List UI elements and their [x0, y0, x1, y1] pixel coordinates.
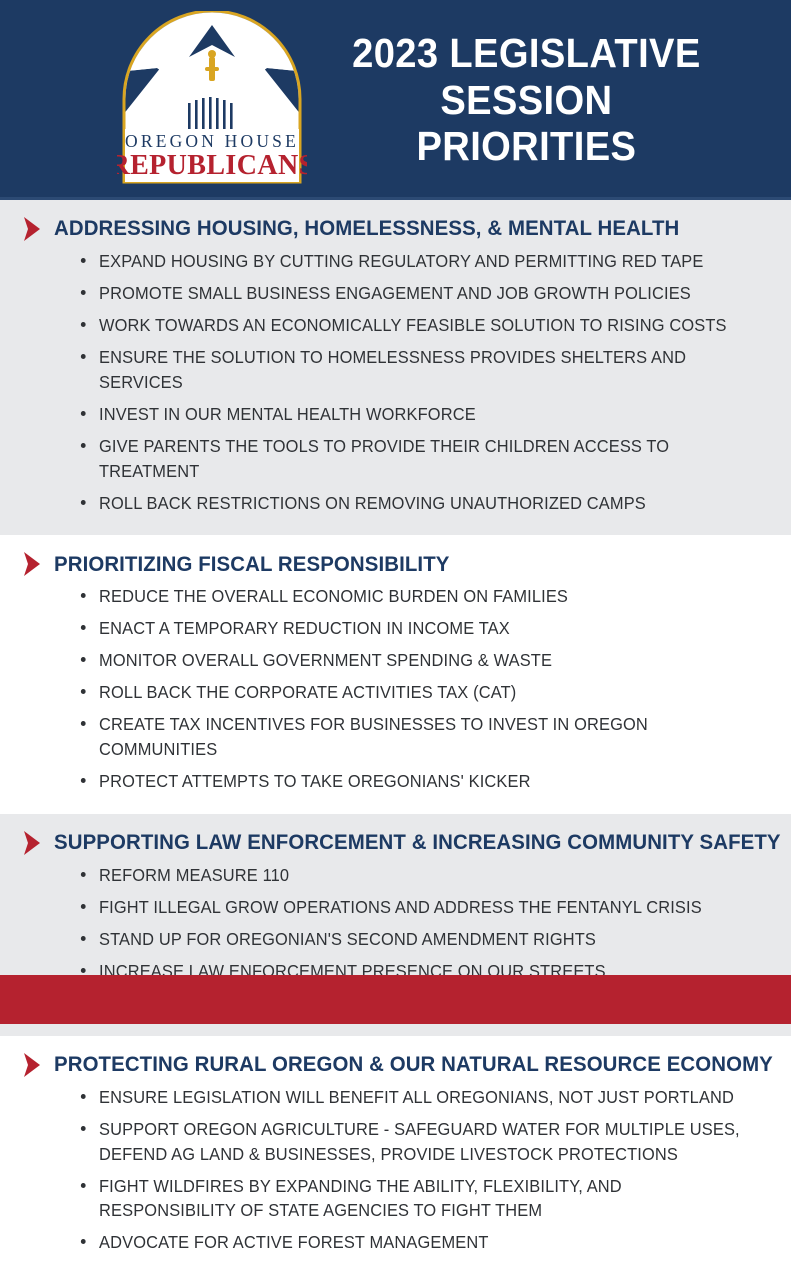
list-item: MONITOR OVERALL GOVERNMENT SPENDING & WA… — [78, 648, 742, 680]
logo-icon: OREGON HOUSE REPUBLICANS — [117, 11, 307, 189]
oregon-house-republicans-logo: OREGON HOUSE REPUBLICANS — [112, 11, 312, 189]
list-item: STAND UP FOR OREGONIAN'S SECOND AMENDMEN… — [78, 927, 742, 959]
list-item: FIGHT ILLEGAL GROW OPERATIONS AND ADDRES… — [78, 895, 742, 927]
footer-bar — [0, 975, 791, 1024]
section-housing: ADDRESSING HOUSING, HOMELESSNESS, & MENT… — [0, 200, 791, 535]
list-item: PROTECT ATTEMPTS TO TAKE OREGONIANS' KIC… — [78, 769, 742, 801]
section-header: ADDRESSING HOUSING, HOMELESSNESS, & MENT… — [18, 200, 773, 242]
section-title: ADDRESSING HOUSING, HOMELESSNESS, & MENT… — [54, 217, 679, 241]
list-item: CREATE TAX INCENTIVES FOR BUSINESSES TO … — [78, 712, 742, 769]
section-title: SUPPORTING LAW ENFORCEMENT & INCREASING … — [54, 831, 781, 855]
arrow-right-icon — [22, 1052, 42, 1078]
section-bullet-list: EXPAND HOUSING BY CUTTING REGULATORY AND… — [18, 249, 773, 522]
list-item: FIGHT WILDFIRES BY EXPANDING THE ABILITY… — [78, 1174, 742, 1231]
list-item: EXPAND HOUSING BY CUTTING REGULATORY AND… — [78, 249, 742, 281]
list-item: REDUCE THE OVERALL ECONOMIC BURDEN ON FA… — [78, 584, 742, 616]
list-item: ROLL BACK RESTRICTIONS ON REMOVING UNAUT… — [78, 491, 742, 523]
list-item: ADVOCATE FOR ACTIVE FOREST MANAGEMENT — [78, 1230, 742, 1262]
section-fiscal: PRIORITIZING FISCAL RESPONSIBILITY REDUC… — [0, 535, 791, 814]
list-item: ROLL BACK THE CORPORATE ACTIVITIES TAX (… — [78, 680, 742, 712]
list-item: INVEST IN OUR MENTAL HEALTH WORKFORCE — [78, 402, 742, 434]
section-rural-oregon: PROTECTING RURAL OREGON & OUR NATURAL RE… — [0, 1036, 791, 1262]
list-item: SUPPORT OREGON AGRICULTURE - SAFEGUARD W… — [78, 1117, 742, 1174]
list-item: ENACT A TEMPORARY REDUCTION IN INCOME TA… — [78, 616, 742, 648]
list-item: ENSURE THE SOLUTION TO HOMELESSNESS PROV… — [78, 345, 742, 402]
logo-bottom-text: REPUBLICANS — [117, 150, 307, 181]
arrow-right-icon — [22, 551, 42, 577]
list-item: REFORM MEASURE 110 — [78, 863, 742, 895]
section-spacer — [18, 522, 773, 535]
section-title: PROTECTING RURAL OREGON & OUR NATURAL RE… — [54, 1053, 773, 1077]
list-item: GIVE PARENTS THE TOOLS TO PROVIDE THEIR … — [78, 434, 742, 491]
section-title: PRIORITIZING FISCAL RESPONSIBILITY — [54, 553, 449, 577]
list-item: PROMOTE SMALL BUSINESS ENGAGEMENT AND JO… — [78, 281, 742, 313]
section-bullet-list: ENSURE LEGISLATION WILL BENEFIT ALL OREG… — [18, 1085, 773, 1262]
arrow-right-icon — [22, 830, 42, 856]
logo-top-text: OREGON HOUSE — [125, 131, 299, 151]
list-item: ENSURE LEGISLATION WILL BENEFIT ALL OREG… — [78, 1085, 742, 1117]
section-header: SUPPORTING LAW ENFORCEMENT & INCREASING … — [18, 814, 773, 856]
flyer-page: OREGON HOUSE REPUBLICANS 2023 LEGISLATIV… — [0, 0, 791, 1024]
section-header: PRIORITIZING FISCAL RESPONSIBILITY — [18, 535, 773, 577]
page-header: OREGON HOUSE REPUBLICANS 2023 LEGISLATIV… — [0, 0, 791, 200]
arrow-right-icon — [22, 216, 42, 242]
section-spacer — [18, 801, 773, 814]
section-bullet-list: REDUCE THE OVERALL ECONOMIC BURDEN ON FA… — [18, 584, 773, 801]
list-item: WORK TOWARDS AN ECONOMICALLY FEASIBLE SO… — [78, 313, 742, 345]
section-spacer — [18, 1023, 773, 1036]
page-title: 2023 LEGISLATIVE SESSION PRIORITIES — [329, 30, 774, 170]
section-header: PROTECTING RURAL OREGON & OUR NATURAL RE… — [18, 1036, 773, 1078]
